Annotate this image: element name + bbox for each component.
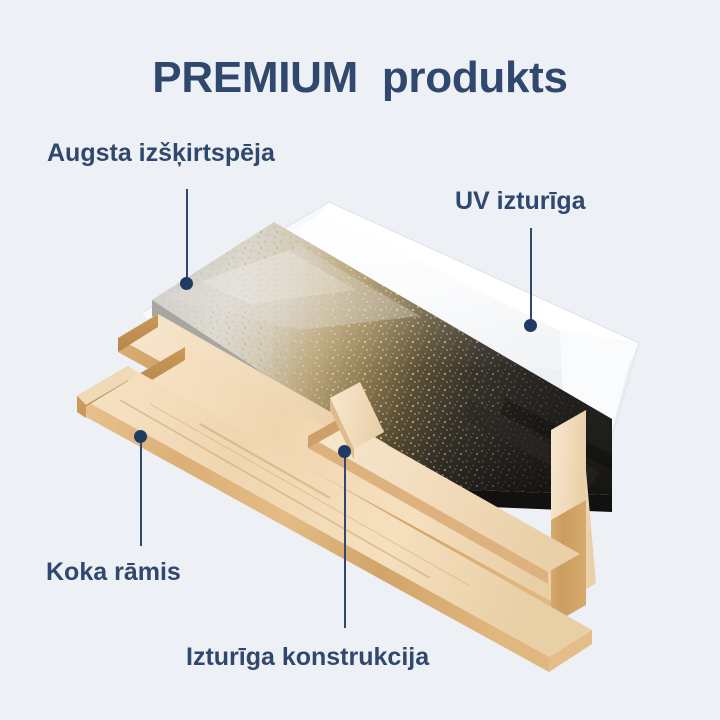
callout-dot-construction bbox=[338, 445, 351, 458]
product-illustration bbox=[0, 0, 720, 720]
page-title: PREMIUM produkts bbox=[0, 50, 720, 106]
callout-leader-resolution bbox=[186, 189, 188, 285]
infographic-canvas: PREMIUM produkts Augsta izšķirtspēja UV … bbox=[0, 0, 720, 720]
callout-leader-frame bbox=[140, 440, 142, 546]
title-emphasis: PREMIUM bbox=[152, 53, 358, 102]
callout-label-frame: Koka rāmis bbox=[46, 557, 181, 587]
callout-label-resolution: Augsta izšķirtspēja bbox=[47, 138, 275, 168]
title-rest: produkts bbox=[382, 53, 568, 102]
callout-dot-resolution bbox=[180, 277, 193, 290]
callout-label-construction: Izturīga konstrukcija bbox=[186, 642, 429, 672]
callout-dot-frame bbox=[134, 430, 147, 443]
callout-leader-uv bbox=[530, 228, 532, 327]
callout-dot-uv bbox=[524, 319, 537, 332]
callout-leader-construction bbox=[344, 455, 346, 628]
callout-label-uv: UV izturīga bbox=[455, 186, 586, 216]
